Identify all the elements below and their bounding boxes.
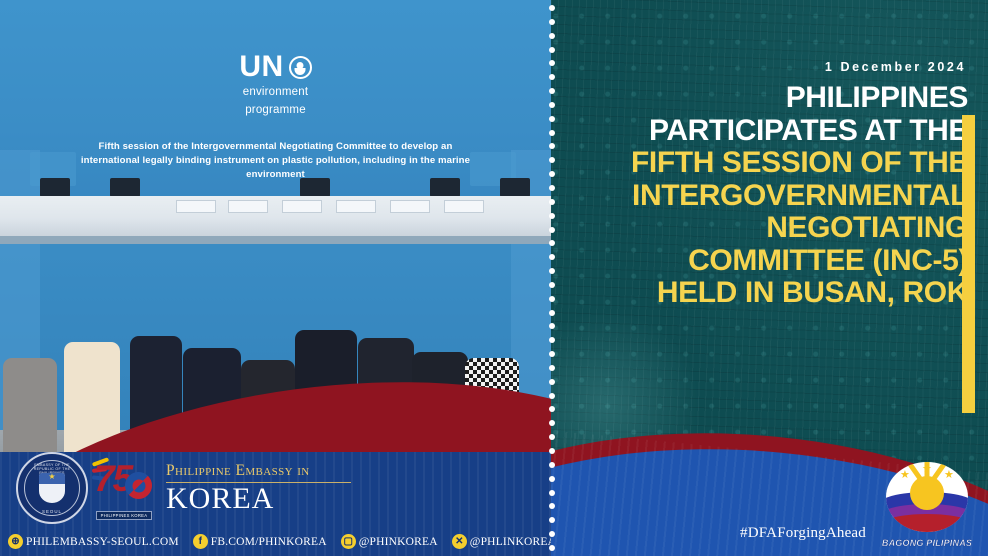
- embassy-seal-icon: EMBASSY OF THE REPUBLIC OF THE PHILIPPIN…: [16, 452, 88, 524]
- delegate-nameplate: [444, 200, 484, 213]
- social-links-row: ⊕ PHILEMBASSY-SEOUL.COM f FB.COM/PHINKOR…: [8, 534, 551, 549]
- conference-monitor: [500, 178, 530, 197]
- conference-monitor: [40, 178, 70, 197]
- anniversary-75-logo: 75 PHILIPPINES KOREA: [92, 452, 154, 520]
- session-title-text: Fifth session of the Intergovernmental N…: [0, 140, 551, 182]
- headline-panel: 1 December 2024 PHILIPPINES PARTICIPATES…: [551, 0, 988, 556]
- headline-line-1: PHILIPPINES: [568, 82, 968, 115]
- conference-monitor: [110, 178, 140, 197]
- embassy-name-line2: KOREA: [166, 484, 366, 514]
- star-icon: ★: [944, 468, 954, 481]
- globe-icon: ⊕: [8, 534, 23, 549]
- unep-name-line1: environment: [0, 85, 551, 100]
- facebook-handle: FB.COM/PHINKOREA: [211, 536, 327, 548]
- campaign-hashtag: #DFAForgingAhead: [740, 525, 866, 542]
- headline-line-3: FIFTH SESSION OF THE: [568, 147, 968, 180]
- x-handle: @PHLINKOREA: [470, 536, 551, 548]
- facebook-icon: f: [193, 534, 208, 549]
- conference-monitor: [300, 178, 330, 197]
- dais-edge: [0, 236, 551, 244]
- bagong-pilipinas-logo: ★ ★ ★ BAGONG PILIPINAS: [874, 456, 980, 548]
- headline-line-5: NEGOTIATING: [568, 212, 968, 245]
- unep-backdrop-branding: UN environment programme Fifth session o…: [0, 52, 551, 182]
- publication-date: 1 December 2024: [825, 60, 966, 74]
- taegeuk-icon: [125, 472, 152, 499]
- embassy-wordmark: Philippine Embassy in KOREA: [166, 462, 366, 514]
- x-twitter-icon: ✕: [452, 534, 467, 549]
- anniversary-caption: PHILIPPINES KOREA: [96, 511, 152, 520]
- star-icon: ★: [922, 462, 932, 475]
- delegate-nameplate: [390, 200, 430, 213]
- perforated-divider: [545, 0, 558, 556]
- unep-abbrev: UN: [239, 52, 283, 82]
- page-title: PHILIPPINES PARTICIPATES AT THE FIFTH SE…: [568, 82, 968, 310]
- social-link-facebook[interactable]: f FB.COM/PHINKOREA: [193, 534, 327, 549]
- delegate-nameplate: [282, 200, 322, 213]
- delegate-nameplate: [336, 200, 376, 213]
- instagram-icon: ▢: [341, 534, 356, 549]
- embassy-name-line1: Philippine Embassy in: [166, 462, 366, 480]
- star-icon: ★: [900, 468, 910, 481]
- unep-logo: UN: [0, 52, 551, 82]
- bagong-pilipinas-emblem-icon: ★ ★ ★: [886, 462, 968, 532]
- social-link-website[interactable]: ⊕ PHILEMBASSY-SEOUL.COM: [8, 534, 179, 549]
- seal-bottom-text: SEOUL: [25, 509, 79, 514]
- social-link-instagram[interactable]: ▢ @PHINKOREA: [341, 534, 438, 549]
- bagong-pilipinas-label: BAGONG PILIPINAS: [874, 538, 980, 548]
- delegate-nameplate: [228, 200, 268, 213]
- social-media-announcement-card: UN environment programme Fifth session o…: [0, 0, 988, 556]
- website-url: PHILEMBASSY-SEOUL.COM: [26, 536, 179, 548]
- seal-shield: [39, 473, 65, 503]
- social-link-x[interactable]: ✕ @PHLINKOREA: [452, 534, 551, 549]
- event-photo: UN environment programme Fifth session o…: [0, 0, 551, 556]
- conference-monitor: [430, 178, 460, 197]
- headline-line-6: COMMITTEE (INC-5): [568, 245, 968, 278]
- headline-line-4: INTERGOVERNMENTAL: [568, 180, 968, 213]
- unep-name-line2: programme: [0, 103, 551, 118]
- headline-line-2: PARTICIPATES AT THE: [568, 115, 968, 148]
- delegate-nameplate: [176, 200, 216, 213]
- headline-line-7: HELD IN BUSAN, ROK: [568, 277, 968, 310]
- unep-emblem-icon: [289, 56, 312, 79]
- yellow-accent-bar: [962, 115, 975, 413]
- instagram-handle: @PHINKOREA: [359, 536, 438, 548]
